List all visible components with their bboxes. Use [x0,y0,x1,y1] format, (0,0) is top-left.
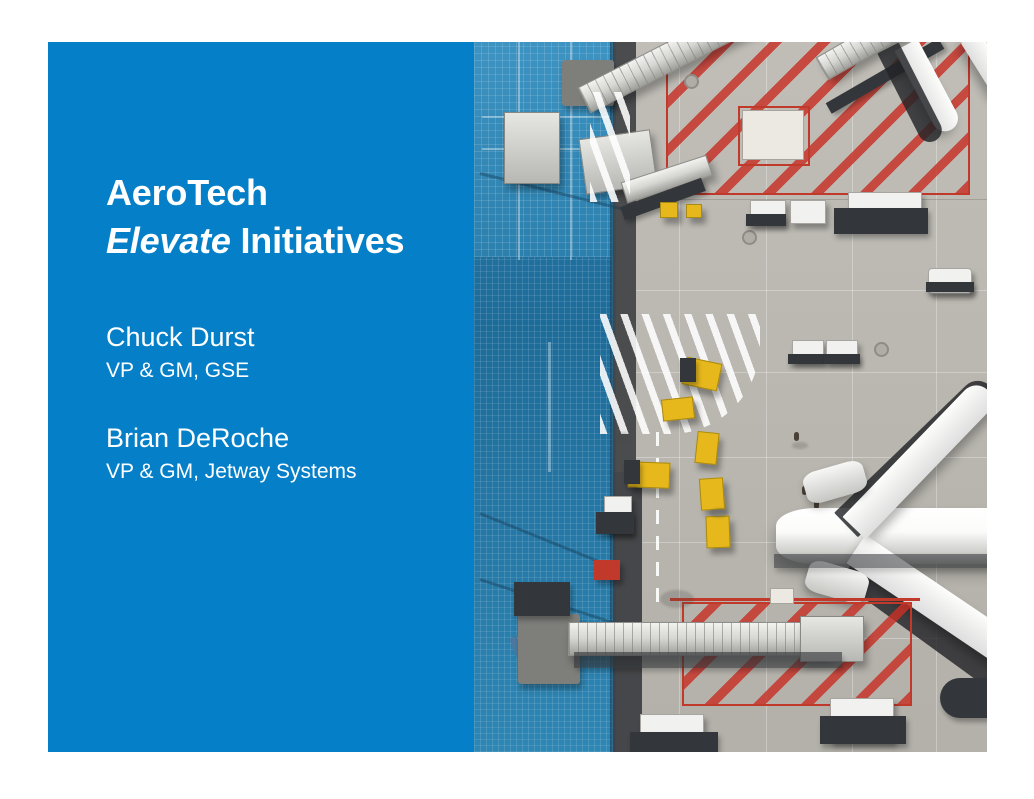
tug-cab [624,460,640,484]
terminal-beam [548,342,551,472]
title-block: AeroTech Elevate Initiatives [106,169,466,265]
cargo-truck-shadow [630,732,718,752]
lane-dash-marking [656,432,659,602]
ground-stain [710,508,728,518]
crew-shadow [792,442,808,449]
marshalling-equipment [686,204,702,218]
presenters-list: Chuck Durst VP & GM, GSE Brian DeRoche V… [106,322,486,484]
slide-canvas: AeroTech Elevate Initiatives Chuck Durst… [0,0,1034,799]
title-line-1: AeroTech [106,172,268,213]
baggage-cart [694,431,719,465]
manhole-cover [742,230,757,245]
presenter-role: VP & GM, Jetway Systems [106,459,486,484]
baggage-cart [699,477,725,511]
ground-equipment [940,678,987,718]
manhole-cover [874,342,889,357]
marshalling-equipment [660,202,678,218]
title-slide: AeroTech Elevate Initiatives Chuck Durst… [48,42,987,752]
ground-sign [770,588,794,604]
tug-cab [680,358,696,382]
safety-zone-inner-box [738,106,810,166]
fire-equipment [594,560,620,580]
ground-stain [660,590,694,608]
presenter-name: Brian DeRoche [106,423,486,455]
baggage-cart [661,396,695,421]
catering-truck-shadow [834,208,928,234]
jetbridge-base-machinery [514,582,570,616]
presenter-item: Brian DeRoche VP & GM, Jetway Systems [106,423,486,484]
title-line-2: Elevate Initiatives [106,217,466,265]
presenter-role: VP & GM, GSE [106,358,486,383]
presenter-item: Chuck Durst VP & GM, GSE [106,322,486,383]
service-truck-shadow [788,354,824,364]
presenter-name: Chuck Durst [106,322,486,354]
service-car-shadow [926,282,974,292]
photo-inner [474,42,987,752]
jetbridge-shadow-lower [574,652,842,668]
jetbridge-stairs [504,112,560,184]
cargo-truck-2-shadow [820,716,906,744]
safety-zone-border [670,598,920,601]
ground-stain [616,432,630,441]
title-line-2-rest: Initiatives [231,220,405,261]
service-truck [790,200,826,224]
zebra-marking-upper [590,92,630,202]
baggage-cart [705,516,730,549]
service-truck-shadow [824,354,860,364]
manhole-cover [684,74,699,89]
page-title: AeroTech Elevate Initiatives [106,169,466,265]
ground-crew-person [794,432,799,441]
aircraft-fuselage-shadow [774,554,987,568]
title-emphasis: Elevate [106,220,231,261]
apron-photograph [474,42,987,752]
service-van-shadow [596,512,634,534]
jetbridge-tunnel-lower [568,622,830,656]
service-truck-shadow [746,214,786,226]
jetbridge-ribs [569,623,829,655]
title-panel: AeroTech Elevate Initiatives Chuck Durst… [48,42,474,752]
